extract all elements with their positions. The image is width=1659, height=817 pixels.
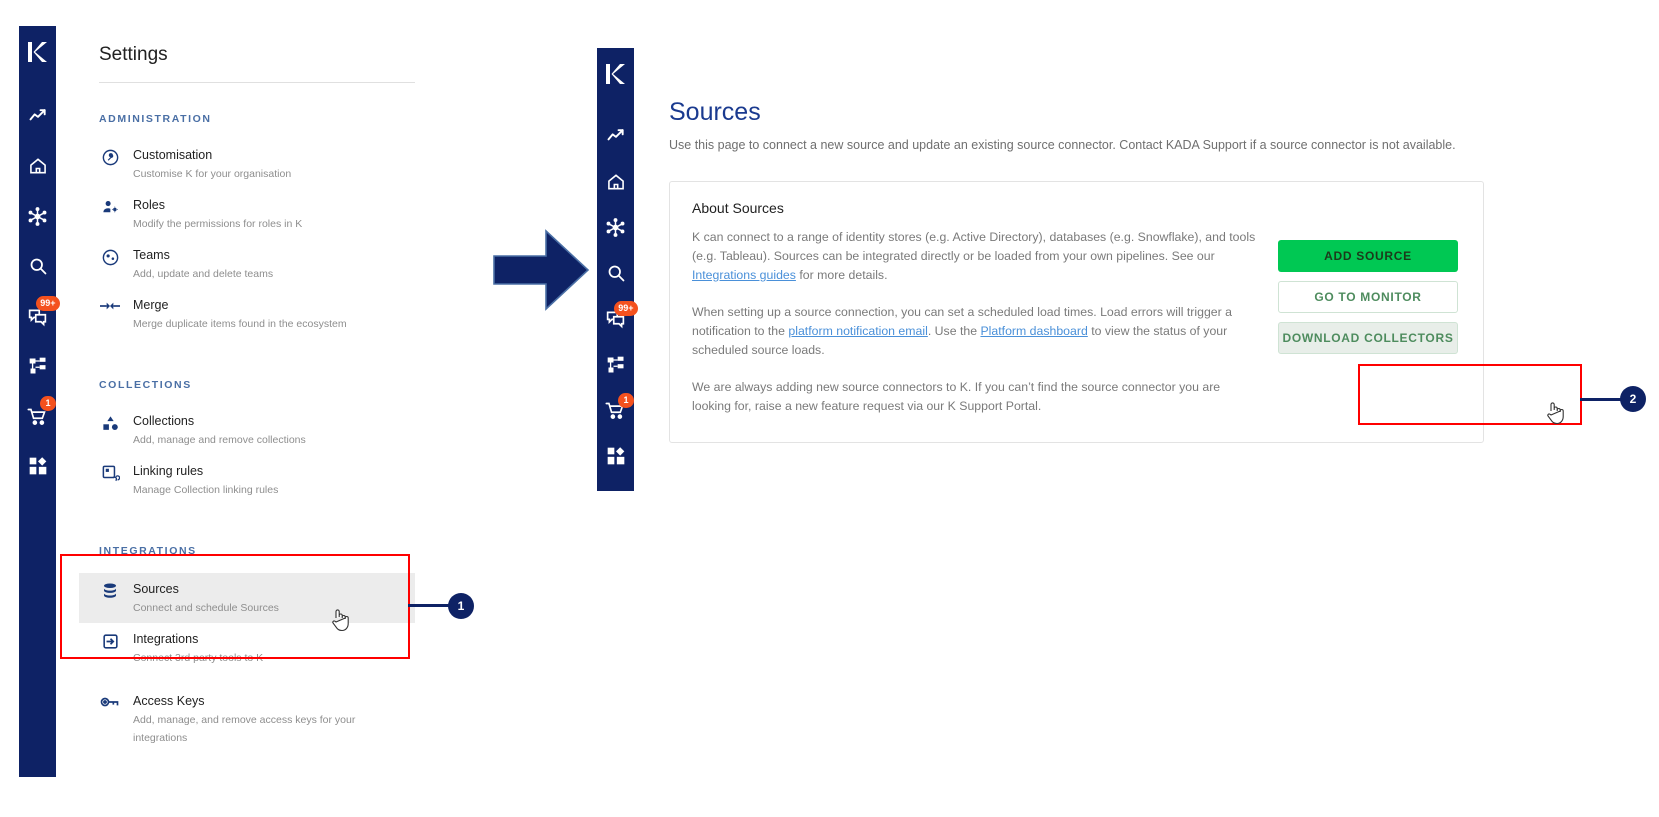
cart-badge: 1 bbox=[40, 396, 55, 411]
k-logo-icon[interactable] bbox=[27, 40, 49, 69]
left-nav-rail: 99+ 1 bbox=[19, 26, 56, 777]
network-hub-icon[interactable] bbox=[25, 203, 51, 229]
paragraph-text: . Use the bbox=[928, 324, 981, 338]
trending-up-icon[interactable] bbox=[603, 125, 629, 147]
card-paragraph-2: When setting up a source connection, you… bbox=[692, 303, 1262, 360]
sidebar-item-subtitle: Connect and schedule Sources bbox=[133, 602, 279, 614]
menu-item-title: Merge bbox=[133, 298, 168, 312]
menu-item-title: Teams bbox=[133, 248, 170, 262]
menu-item-subtitle: Add, update and delete teams bbox=[133, 268, 273, 280]
linking-rules-icon bbox=[99, 464, 121, 483]
sitemap-icon[interactable] bbox=[25, 353, 51, 379]
notification-badge: 99+ bbox=[614, 301, 637, 316]
about-sources-card: About Sources K can connect to a range o… bbox=[669, 181, 1484, 443]
chat-bubbles-icon[interactable]: 99+ bbox=[603, 308, 629, 330]
menu-item-title: Collections bbox=[133, 414, 194, 428]
menu-item-integrations[interactable]: Integrations Connect 3rd party tools to … bbox=[79, 623, 415, 673]
cart-badge: 1 bbox=[618, 393, 633, 408]
key-icon bbox=[99, 694, 121, 710]
notification-badge: 99+ bbox=[36, 296, 59, 311]
shopping-cart-icon[interactable]: 1 bbox=[603, 400, 629, 422]
menu-item-title: Access Keys bbox=[133, 694, 205, 708]
k-logo-icon[interactable] bbox=[605, 62, 627, 91]
platform-notification-email-link[interactable]: platform notification email bbox=[788, 324, 927, 338]
menu-item-title: Customisation bbox=[133, 148, 212, 162]
go-to-monitor-button[interactable]: GO TO MONITOR bbox=[1278, 281, 1458, 313]
card-action-buttons: ADD SOURCE GO TO MONITOR DOWNLOAD COLLEC… bbox=[1278, 228, 1458, 416]
menu-item-title: Linking rules bbox=[133, 464, 203, 478]
right-arrow-icon bbox=[492, 228, 590, 317]
menu-item-subtitle: Customise K for your organisation bbox=[133, 168, 291, 180]
database-icon bbox=[99, 582, 121, 600]
menu-item-merge[interactable]: Merge Merge duplicate items found in the… bbox=[79, 289, 415, 339]
callout-badge-2: 2 bbox=[1620, 386, 1646, 412]
page-title: Settings bbox=[79, 26, 415, 82]
add-source-button[interactable]: ADD SOURCE bbox=[1278, 240, 1458, 272]
wrench-circle-icon bbox=[99, 148, 121, 167]
callout-line-1 bbox=[408, 604, 450, 607]
paragraph-text: for more details. bbox=[796, 268, 888, 282]
person-gear-icon bbox=[99, 198, 121, 217]
menu-item-subtitle: Add, manage and remove collections bbox=[133, 434, 306, 446]
menu-item-subtitle: Connect 3rd party tools to K bbox=[133, 652, 263, 664]
menu-item-collections[interactable]: Collections Add, manage and remove colle… bbox=[79, 405, 415, 455]
sources-nav-rail: 99+ 1 bbox=[597, 48, 634, 491]
menu-item-roles[interactable]: Roles Modify the permissions for roles i… bbox=[79, 189, 415, 239]
group-label-integrations: INTEGRATIONS bbox=[79, 545, 415, 557]
settings-panel-body: Settings ADMINISTRATION Customisation Cu… bbox=[79, 26, 415, 753]
group-label-administration: ADMINISTRATION bbox=[79, 113, 415, 125]
card-paragraph-1: K can connect to a range of identity sto… bbox=[692, 228, 1262, 285]
paragraph-text: K can connect to a range of identity sto… bbox=[692, 230, 1255, 263]
page-title-sources: Sources bbox=[669, 98, 1659, 127]
menu-item-title: Roles bbox=[133, 198, 165, 212]
callout-badge-1: 1 bbox=[448, 593, 474, 619]
download-collectors-button[interactable]: DOWNLOAD COLLECTORS bbox=[1278, 322, 1458, 354]
card-body-text: K can connect to a range of identity sto… bbox=[692, 228, 1262, 416]
menu-item-subtitle: Manage Collection linking rules bbox=[133, 484, 278, 496]
screenshot-stage: Settings ADMINISTRATION Customisation Cu… bbox=[0, 0, 1659, 817]
dashboard-blocks-icon[interactable] bbox=[25, 453, 51, 479]
page-description: Use this page to connect a new source an… bbox=[669, 136, 1459, 155]
search-icon[interactable] bbox=[603, 262, 629, 284]
sidebar-item-sources[interactable]: Sources Connect and schedule Sources bbox=[79, 573, 415, 623]
menu-item-subtitle: Add, manage, and remove access keys for … bbox=[133, 714, 355, 744]
platform-dashboard-link[interactable]: Platform dashboard bbox=[980, 324, 1087, 338]
chat-bubbles-icon[interactable]: 99+ bbox=[25, 303, 51, 329]
integrations-arrow-icon bbox=[99, 632, 121, 651]
search-icon[interactable] bbox=[25, 253, 51, 279]
menu-item-subtitle: Merge duplicate items found in the ecosy… bbox=[133, 318, 347, 330]
menu-item-customisation[interactable]: Customisation Customise K for your organ… bbox=[79, 139, 415, 189]
home-icon[interactable] bbox=[25, 153, 51, 179]
settings-panel: Settings ADMINISTRATION Customisation Cu… bbox=[19, 26, 415, 777]
sources-panel-body: Sources Use this page to connect a new s… bbox=[669, 48, 1659, 443]
menu-item-teams[interactable]: Teams Add, update and delete teams bbox=[79, 239, 415, 289]
shapes-icon bbox=[99, 414, 121, 433]
group-label-collections: COLLECTIONS bbox=[79, 379, 415, 391]
merge-arrows-icon bbox=[99, 298, 121, 314]
sitemap-icon[interactable] bbox=[603, 354, 629, 376]
menu-item-access-keys[interactable]: Access Keys Add, manage, and remove acce… bbox=[79, 685, 415, 753]
home-icon[interactable] bbox=[603, 171, 629, 193]
integrations-guides-link[interactable]: Integrations guides bbox=[692, 268, 796, 282]
sidebar-item-label: Sources bbox=[133, 582, 179, 596]
teams-circle-icon bbox=[99, 248, 121, 267]
shopping-cart-icon[interactable]: 1 bbox=[25, 403, 51, 429]
menu-item-linking-rules[interactable]: Linking rules Manage Collection linking … bbox=[79, 455, 415, 505]
menu-item-subtitle: Modify the permissions for roles in K bbox=[133, 218, 302, 230]
card-paragraph-3: We are always adding new source connecto… bbox=[692, 378, 1262, 416]
sources-panel: Sources Use this page to connect a new s… bbox=[597, 48, 1659, 793]
card-title: About Sources bbox=[692, 200, 1461, 216]
dashboard-blocks-icon[interactable] bbox=[603, 445, 629, 467]
menu-item-title: Integrations bbox=[133, 632, 198, 646]
trending-up-icon[interactable] bbox=[25, 103, 51, 129]
network-hub-icon[interactable] bbox=[603, 217, 629, 239]
